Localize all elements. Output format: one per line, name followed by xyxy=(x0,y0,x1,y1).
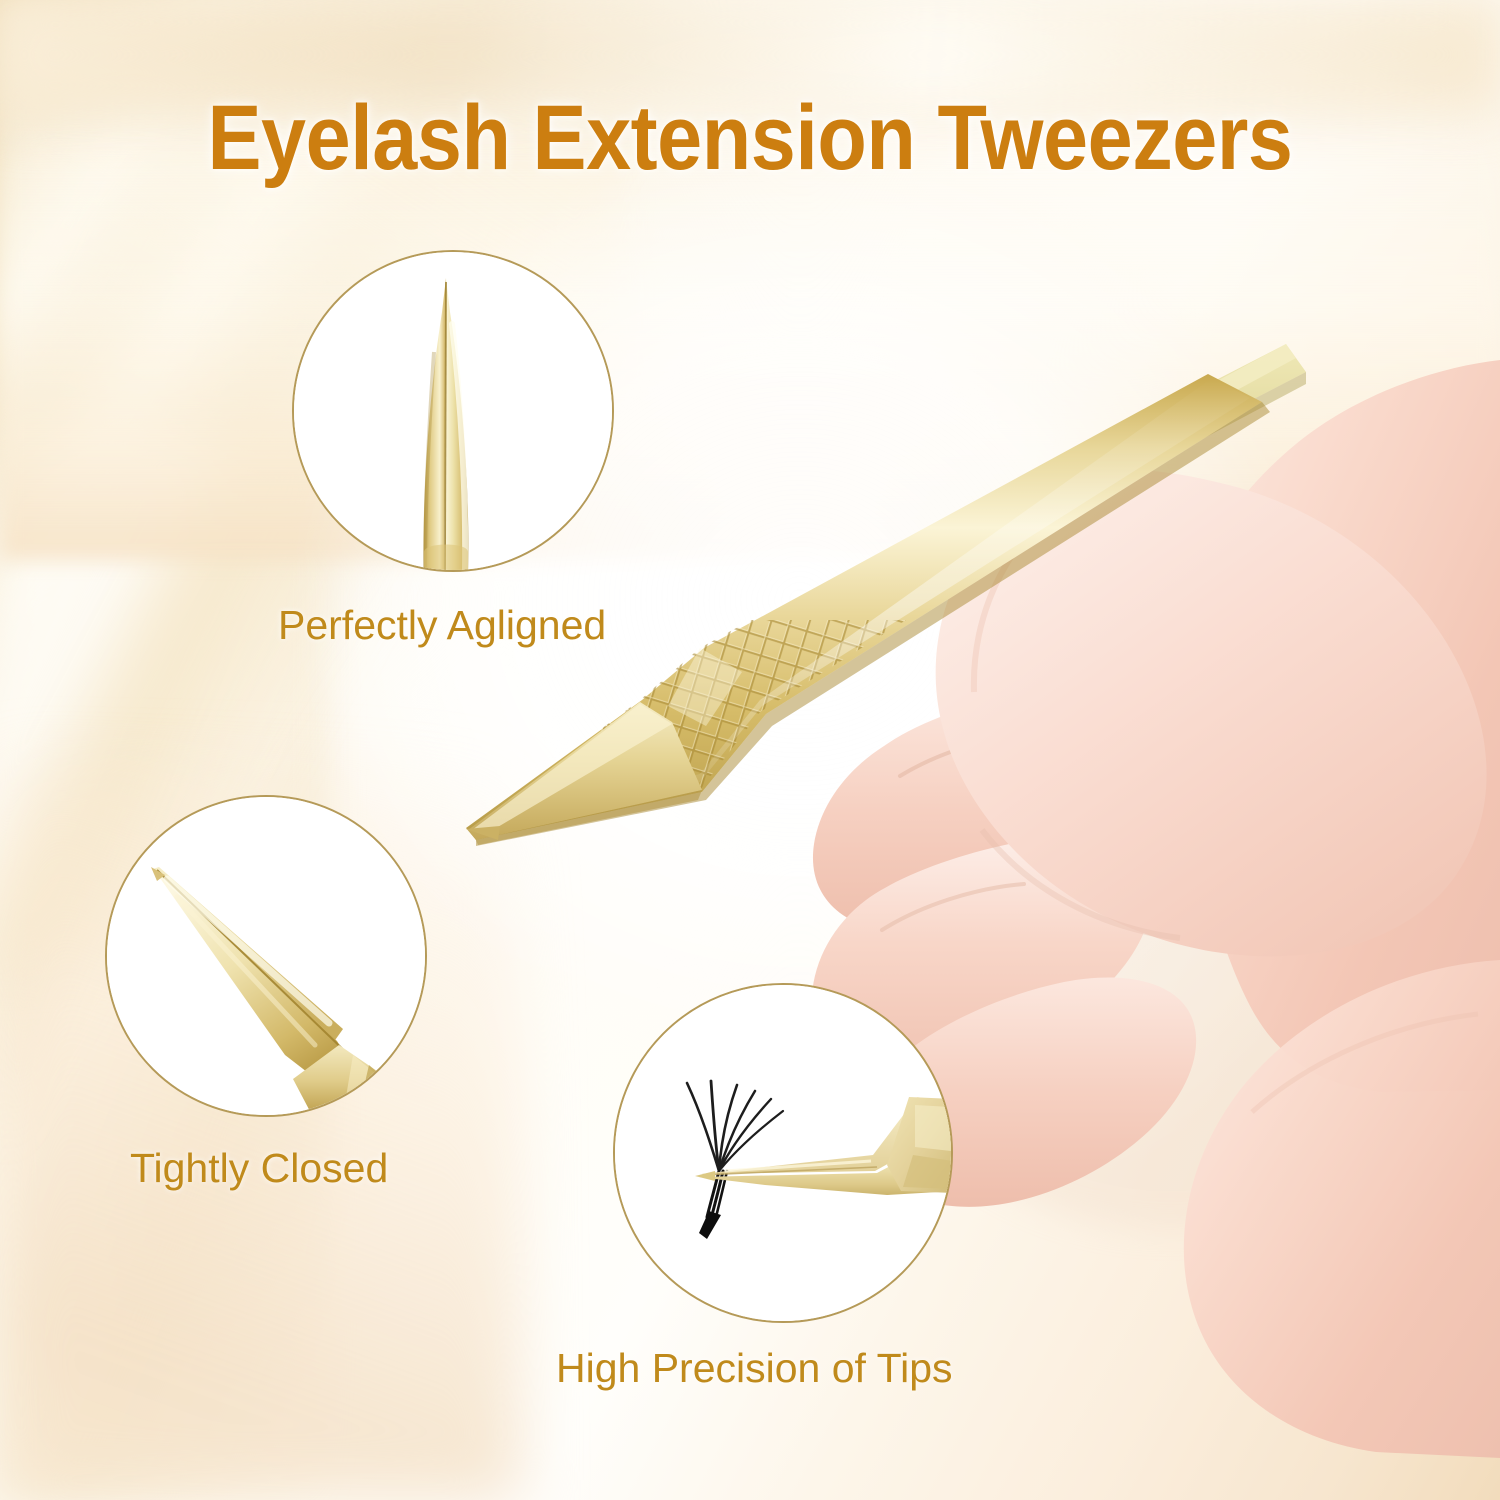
feature-inset-aligned xyxy=(292,250,614,572)
background-bottom-wash xyxy=(0,0,1500,560)
tweezer-knurl-texture xyxy=(600,620,1120,920)
feature-caption-precision: High Precision of Tips xyxy=(556,1348,953,1389)
background-left-silk-band xyxy=(0,0,330,1500)
product-poster: Eyelash Extension Tweezers xyxy=(0,0,1500,1500)
hand xyxy=(812,360,1500,1458)
feature-inset-closed xyxy=(105,795,427,1117)
tweezer-tip-diagonal-icon xyxy=(107,797,427,1117)
tweezer-tip-vertical-icon xyxy=(294,252,614,572)
tweezer-back-arm xyxy=(948,344,1306,540)
poster-title: Eyelash Extension Tweezers xyxy=(90,92,1410,184)
feature-inset-precision xyxy=(613,983,953,1323)
feature-caption-closed: Tightly Closed xyxy=(130,1148,388,1189)
feature-caption-aligned: Perfectly Agligned xyxy=(278,605,606,646)
tweezer-tip-lash-fan-icon xyxy=(615,985,953,1323)
